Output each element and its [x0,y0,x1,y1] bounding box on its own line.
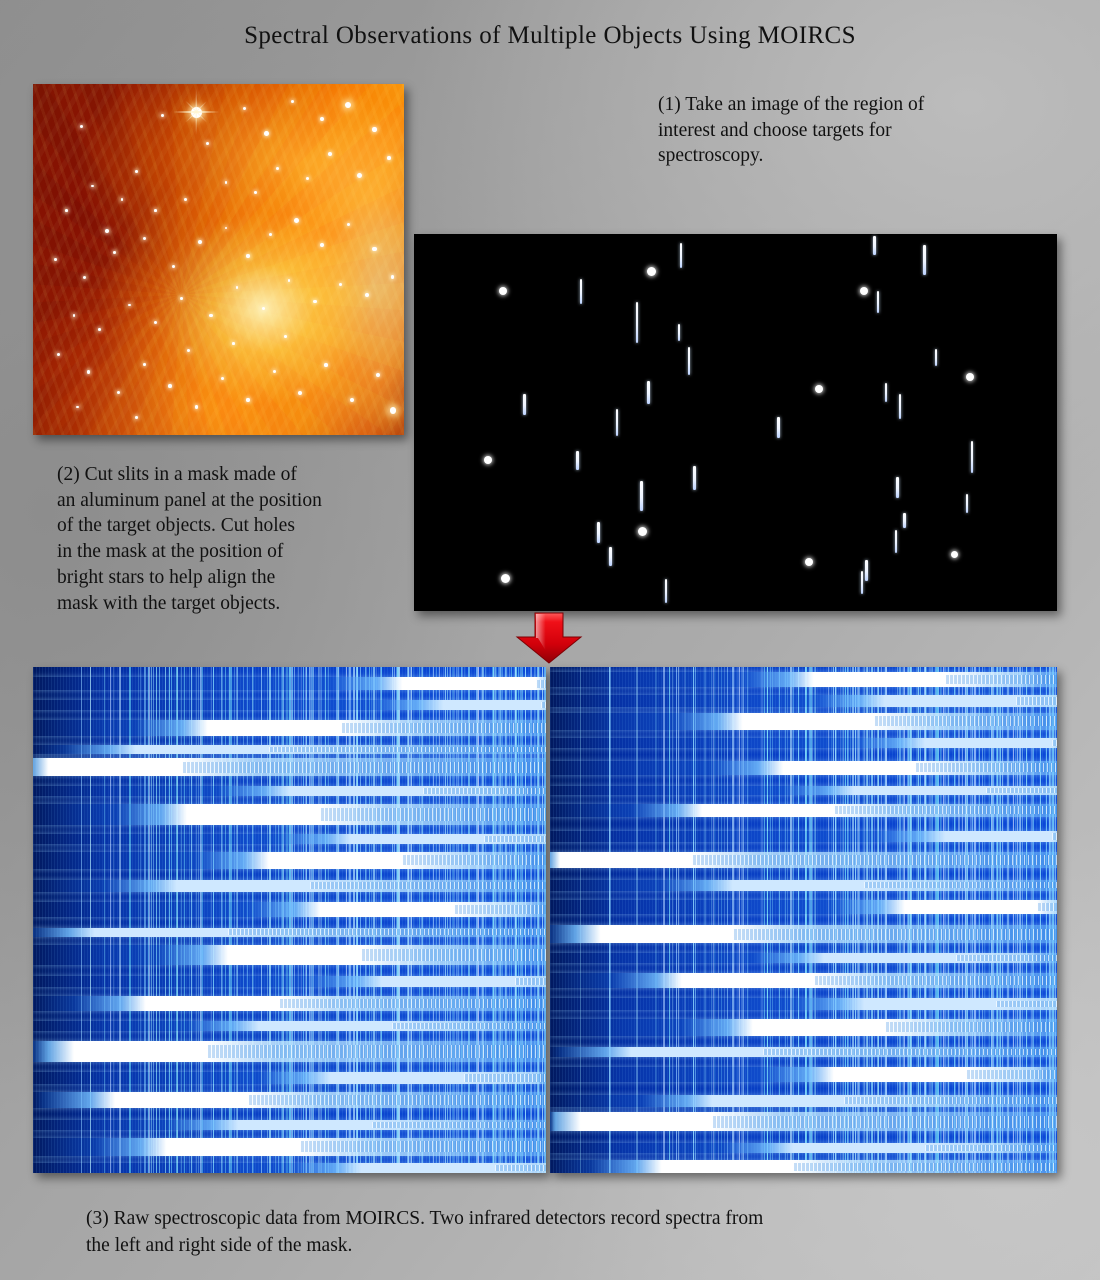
nebula-star [246,398,249,401]
spectrum-continuum [228,929,546,934]
mask-slit [966,494,969,513]
spectrum-continuum [925,1145,1057,1151]
spectrum-continuum [361,949,546,961]
nebula-star [154,209,157,212]
nebula-star [73,314,76,317]
spectrum-continuum [464,1074,546,1081]
nebula-star [113,251,116,254]
spectrum-continuum [515,978,546,985]
mask-alignment-hole [638,527,647,536]
spectrum-continuum [207,1045,546,1057]
spectrum-continuum [692,855,1057,865]
page-title: Spectral Observations of Multiple Object… [0,22,1100,50]
nebula-star [262,307,265,310]
spectrum-continuum [372,1122,546,1128]
mask-slit [680,243,683,268]
nebula-star [87,370,90,373]
mask-alignment-hole [860,287,868,295]
mask-alignment-hole [951,551,958,558]
mask-slit [523,394,526,415]
object-spectrum-trace [550,738,1057,748]
mask-alignment-hole [805,558,813,566]
object-spectrum-trace [33,976,546,987]
object-spectrum-trace [550,900,1057,914]
spectrum-continuum [1016,697,1057,704]
spectrum-continuum [320,808,546,821]
spectrum-continuum [956,955,1057,961]
nebula-star [168,384,172,388]
spectrum-continuum [182,762,546,773]
spectrum-continuum [536,680,546,688]
nebula-star [246,254,249,257]
object-spectrum-trace [550,831,1057,841]
spectroscopic-data-left-detector [33,667,546,1173]
spectrum-continuum [793,1163,1057,1171]
mask-slit [640,481,643,511]
object-spectrum-trace [33,834,546,844]
caption-step-2: (2) Cut slits in a mask made of an alumi… [57,462,429,616]
mask-slit [693,466,696,491]
mask-slit [777,417,780,438]
spectrum-continuum [279,999,546,1008]
mask-slit [971,441,974,473]
mask-slit [935,349,938,366]
object-spectrum-trace [550,786,1057,795]
figure-page: Spectral Observations of Multiple Object… [0,0,1100,1280]
spectrum-continuum [454,905,546,914]
infrared-nebula-image [33,84,404,435]
mask-slit [616,409,619,435]
spectrum-continuum [844,1097,1057,1104]
mask-slit [877,291,880,314]
nebula-star [65,209,68,212]
nebula-star [328,152,332,156]
nebula-star [209,314,212,317]
mask-slit [895,530,898,553]
mask-alignment-hole [647,267,656,276]
mask-slit [899,394,902,419]
object-spectrum-trace [550,998,1057,1009]
mask-alignment-hole [501,574,510,583]
spectrum-continuum [966,1070,1057,1079]
caption-step-1: (1) Take an image of the region of inter… [658,92,1030,169]
nebula-star [225,181,228,184]
nebula-star [298,391,302,395]
spectrum-continuum [996,1001,1057,1008]
nebula-star [372,127,376,131]
spectrum-continuum [1037,903,1057,912]
mask-slit [665,579,668,604]
spectrum-continuum [986,788,1057,793]
object-spectrum-trace [33,700,546,710]
spectrum-continuum [269,747,546,752]
nebula-star [232,342,235,345]
nebula-grain [33,84,404,435]
mask-alignment-hole [499,287,507,295]
spectrum-continuum [484,836,546,842]
mask-slit [597,522,600,543]
spectrum-continuum [1052,833,1057,839]
object-spectrum-trace [550,695,1057,707]
spectrum-continuum [423,788,546,794]
spectrum-continuum [1052,740,1057,746]
nebula-star [195,405,198,408]
object-spectrum-trace [33,677,546,690]
spectrum-continuum [310,882,546,889]
nebula-star [324,363,328,367]
nebula-star [387,156,391,160]
mask-slit [903,513,906,528]
mask-slit [688,347,691,375]
spectrum-continuum [402,855,546,865]
nebula-star [76,406,79,409]
nebula-star [54,258,57,261]
nebula-star [284,335,287,338]
mask-slit [896,477,899,498]
spectrum-continuum [495,1165,546,1171]
mask-slit [861,571,864,594]
nebula-star [80,125,83,128]
mask-slit [580,279,583,304]
mask-alignment-hole [966,373,974,381]
nebula-star [357,173,362,178]
spectrum-continuum [712,1116,1057,1128]
spectrum-continuum [814,976,1057,985]
nebula-star [390,407,396,413]
nebula-star [372,247,376,251]
nebula-star [143,363,146,366]
spectrum-continuum [915,763,1057,772]
spectrum-continuum [392,1023,546,1029]
spectrum-continuum [864,882,1057,889]
mask-slit [865,560,868,581]
down-arrow-icon [505,611,593,665]
mask-slit [873,236,876,255]
slit-mask-image [414,234,1057,611]
spectrum-continuum [945,675,1057,684]
spectrum-continuum [834,806,1057,814]
nebula-star [91,185,93,187]
spectrum-continuum [541,702,546,708]
mask-alignment-hole [815,385,823,393]
nebula-star [365,293,369,297]
spectrum-continuum [248,1095,546,1105]
spectrum-continuum [300,1141,546,1152]
nebula-star [313,300,316,303]
spectrum-continuum [763,1049,1057,1055]
mask-slit [678,324,681,341]
mask-slit [609,547,612,566]
nebula-star [180,297,183,300]
object-spectrum-trace [33,1163,546,1173]
mask-slit [923,245,926,275]
spectrum-continuum [733,929,1057,940]
spectroscopic-data-right-detector [550,667,1057,1173]
mask-slit [647,381,650,404]
nebula-star [264,131,269,136]
mask-alignment-hole [484,456,492,464]
mask-slit [885,383,888,402]
spectrum-continuum [341,723,546,733]
spectrum-continuum [874,716,1057,726]
caption-step-3: (3) Raw spectroscopic data from MOIRCS. … [86,1206,1016,1260]
spectrum-continuum [885,1022,1057,1032]
mask-slit [636,302,639,343]
mask-slit [576,451,579,470]
